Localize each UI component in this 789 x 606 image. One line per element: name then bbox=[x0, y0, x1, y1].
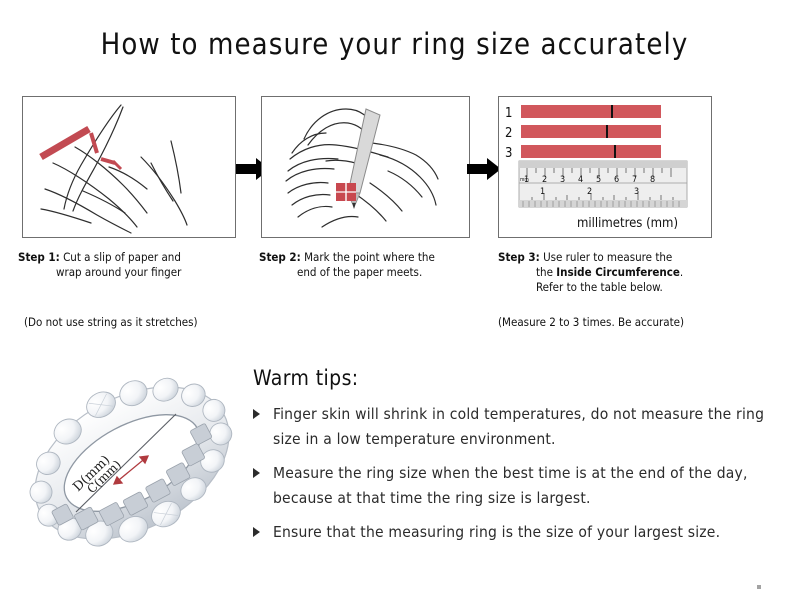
warm-tip-item: Finger skin will shrink in cold temperat… bbox=[253, 402, 773, 452]
warm-tip-item: Measure the ring size when the best time… bbox=[253, 461, 773, 511]
step-2-line1: Mark the point where the bbox=[304, 250, 435, 264]
hand-marking-paper-icon bbox=[262, 97, 469, 237]
svg-text:3: 3 bbox=[634, 187, 639, 197]
svg-text:1: 1 bbox=[505, 106, 512, 121]
svg-text:7: 7 bbox=[632, 175, 637, 185]
step-1-illustration-panel bbox=[22, 96, 236, 238]
warm-tips-heading: Warm tips: bbox=[253, 366, 359, 390]
svg-text:2: 2 bbox=[587, 187, 592, 197]
step-3-label: Step 3: bbox=[498, 250, 540, 264]
step-2-label: Step 2: bbox=[259, 250, 301, 264]
step-3-inside-circumference: Inside Circumference bbox=[556, 265, 680, 279]
page-title: How to measure your ring size accurately bbox=[0, 27, 789, 61]
triangle-bullet-icon bbox=[253, 409, 260, 419]
warm-tip-text: Ensure that the measuring ring is the si… bbox=[273, 523, 720, 541]
warm-tip-item: Ensure that the measuring ring is the si… bbox=[253, 520, 773, 545]
step-3-line2: the Inside Circumference. bbox=[498, 265, 748, 280]
svg-text:3: 3 bbox=[505, 146, 512, 161]
ring-size-guide-page: How to measure your ring size accurately bbox=[0, 0, 789, 606]
triangle-bullet-icon bbox=[253, 527, 260, 537]
image-artifact bbox=[757, 585, 761, 589]
step-2-illustration-panel bbox=[261, 96, 470, 238]
svg-text:1: 1 bbox=[540, 187, 545, 197]
svg-text:2: 2 bbox=[505, 126, 512, 141]
hand-with-paper-slip-icon bbox=[23, 97, 235, 237]
svg-text:2: 2 bbox=[542, 175, 547, 185]
svg-text:mm: mm bbox=[520, 177, 529, 183]
step-1-note: (Do not use string as it stretches) bbox=[24, 315, 198, 329]
step-3-line2-prefix: the bbox=[536, 265, 556, 279]
step-3-illustration-panel: 1 2 3 bbox=[498, 96, 712, 238]
warm-tip-text: Finger skin will shrink in cold temperat… bbox=[273, 405, 764, 448]
svg-text:5: 5 bbox=[596, 175, 601, 185]
step-1-line2: wrap around your finger bbox=[18, 265, 248, 280]
step-2-caption: Step 2: Mark the point where the end of … bbox=[259, 250, 489, 280]
svg-text:4: 4 bbox=[578, 175, 583, 185]
ring-diagram: D(mm) C(mm) bbox=[18, 352, 246, 574]
step-2-line2: end of the paper meets. bbox=[259, 265, 489, 280]
step-1-caption: Step 1: Cut a slip of paper and wrap aro… bbox=[18, 250, 248, 280]
step-3-line3: Refer to the table below. bbox=[498, 280, 748, 295]
step-3-note: (Measure 2 to 3 times. Be accurate) bbox=[498, 315, 684, 329]
ruler-caption: millimetres (mm) bbox=[577, 216, 678, 231]
step-3-caption: Step 3: Use ruler to measure the the Ins… bbox=[498, 250, 748, 295]
eternity-ring-illustration-icon: D(mm) C(mm) bbox=[18, 352, 246, 574]
step-1-label: Step 1: bbox=[18, 250, 60, 264]
svg-text:3: 3 bbox=[560, 175, 565, 185]
warm-tip-text: Measure the ring size when the best time… bbox=[273, 464, 748, 507]
step-1-line1: Cut a slip of paper and bbox=[63, 250, 181, 264]
step-3-line2-suffix: . bbox=[680, 265, 683, 279]
svg-text:6: 6 bbox=[614, 175, 619, 185]
step-3-line1: Use ruler to measure the bbox=[543, 250, 672, 264]
warm-tips-list: Finger skin will shrink in cold temperat… bbox=[253, 402, 773, 554]
ruler-and-strips-icon: 1 2 3 bbox=[499, 97, 711, 237]
triangle-bullet-icon bbox=[253, 468, 260, 478]
svg-text:8: 8 bbox=[650, 175, 655, 185]
